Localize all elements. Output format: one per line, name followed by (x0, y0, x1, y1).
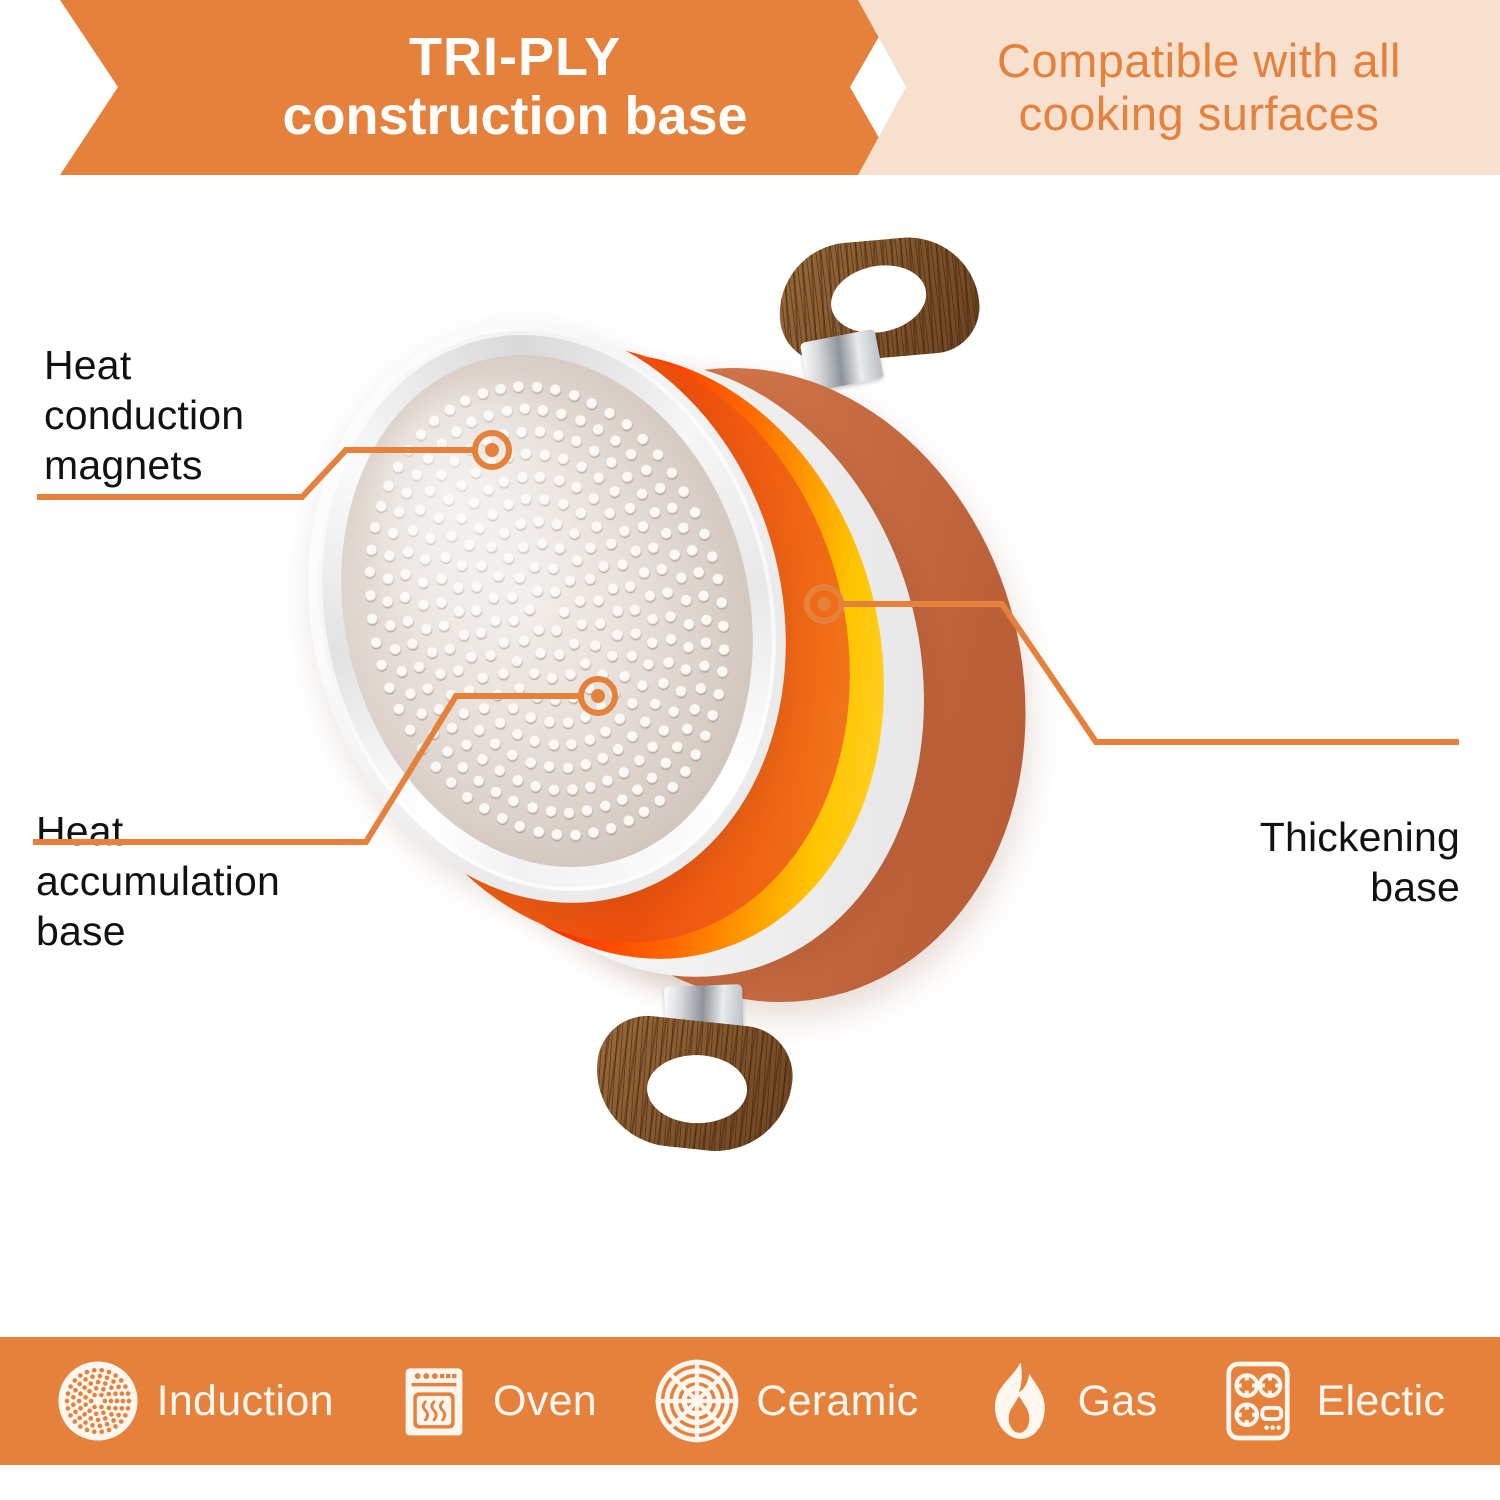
banner-tri-ply: TRI-PLY construction base (60, 0, 900, 175)
banner-title-line2: construction base (282, 86, 747, 146)
induction-icon (55, 1358, 141, 1444)
banner-subtitle-line2: cooking surfaces (1019, 88, 1380, 141)
banner-subtitle-line1: Compatible with all (997, 35, 1401, 88)
callout-label: Thickening base (1060, 812, 1460, 912)
wood-loop-handle-top (764, 231, 996, 400)
callout-thickening-base: Thickening base (1060, 812, 1460, 912)
strip-label: Ceramic (756, 1377, 918, 1426)
strip-label: Gas (1078, 1377, 1158, 1426)
callout-label: Heat accumulation base (36, 806, 416, 956)
strip-label: Electic (1317, 1377, 1446, 1426)
strip-item-electric[interactable]: Electic (1215, 1358, 1446, 1444)
ceramic-icon (654, 1358, 740, 1444)
oven-icon (391, 1358, 477, 1444)
callout-heat-accumulation-base: Heat accumulation base (36, 806, 416, 956)
strip-label: Oven (493, 1377, 597, 1426)
callout-label: Heat conduction magnets (44, 340, 374, 490)
header-banners: TRI-PLY construction base Compatible wit… (0, 0, 1500, 180)
strip-item-oven[interactable]: Oven (391, 1358, 597, 1444)
strip-item-ceramic[interactable]: Ceramic (654, 1358, 918, 1444)
banner-compatibility: Compatible with all cooking surfaces (858, 0, 1500, 175)
callout-heat-conduction-magnets: Heat conduction magnets (44, 340, 374, 490)
electric-cooktop-icon (1215, 1358, 1301, 1444)
product-illustration: Heat conduction magnets Heat accumulatio… (0, 180, 1500, 1330)
strip-item-induction[interactable]: Induction (55, 1358, 334, 1444)
compatibility-strip: Induction Oven (0, 1337, 1500, 1465)
wood-loop-handle-bottom (577, 974, 816, 1186)
gas-flame-icon (976, 1358, 1062, 1444)
infographic-canvas: TRI-PLY construction base Compatible wit… (0, 0, 1500, 1500)
strip-item-gas[interactable]: Gas (976, 1358, 1158, 1444)
strip-label: Induction (157, 1377, 334, 1426)
banner-title-line1: TRI-PLY (409, 29, 621, 86)
